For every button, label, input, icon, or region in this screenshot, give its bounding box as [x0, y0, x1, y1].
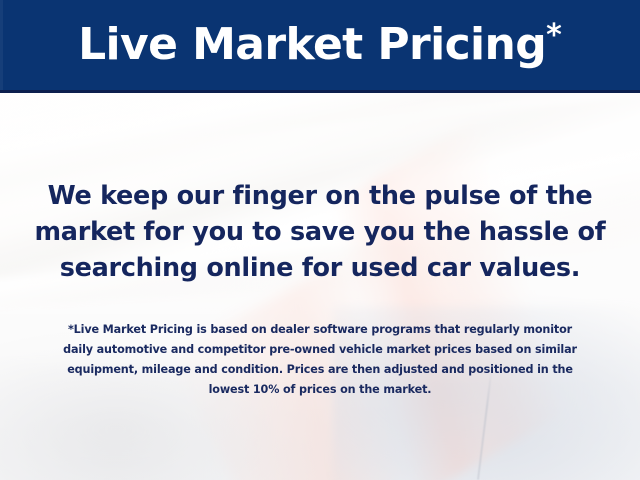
- disclaimer-line-3: equipment, mileage and condition. Prices…: [28, 360, 612, 380]
- header-banner: Live Market Pricing*: [0, 0, 640, 93]
- banner-title-asterisk: *: [546, 18, 562, 53]
- content-area: We keep our finger on the pulse of the m…: [0, 93, 640, 480]
- headline: We keep our finger on the pulse of the m…: [0, 178, 640, 286]
- disclaimer: *Live Market Pricing is based on dealer …: [0, 320, 640, 400]
- disclaimer-line-2: daily automotive and competitor pre-owne…: [28, 340, 612, 360]
- disclaimer-line-1: *Live Market Pricing is based on dealer …: [28, 320, 612, 340]
- headline-line-3: searching online for used car values.: [24, 250, 616, 286]
- banner-title: Live Market Pricing*: [78, 21, 562, 67]
- headline-line-1: We keep our finger on the pulse of the: [24, 178, 616, 214]
- live-market-pricing-promo-card: Live Market Pricing* We keep our finger …: [0, 0, 640, 480]
- banner-title-text: Live Market Pricing: [78, 19, 546, 70]
- disclaimer-line-4: lowest 10% of prices on the market.: [28, 380, 612, 400]
- headline-line-2: market for you to save you the hassle of: [24, 214, 616, 250]
